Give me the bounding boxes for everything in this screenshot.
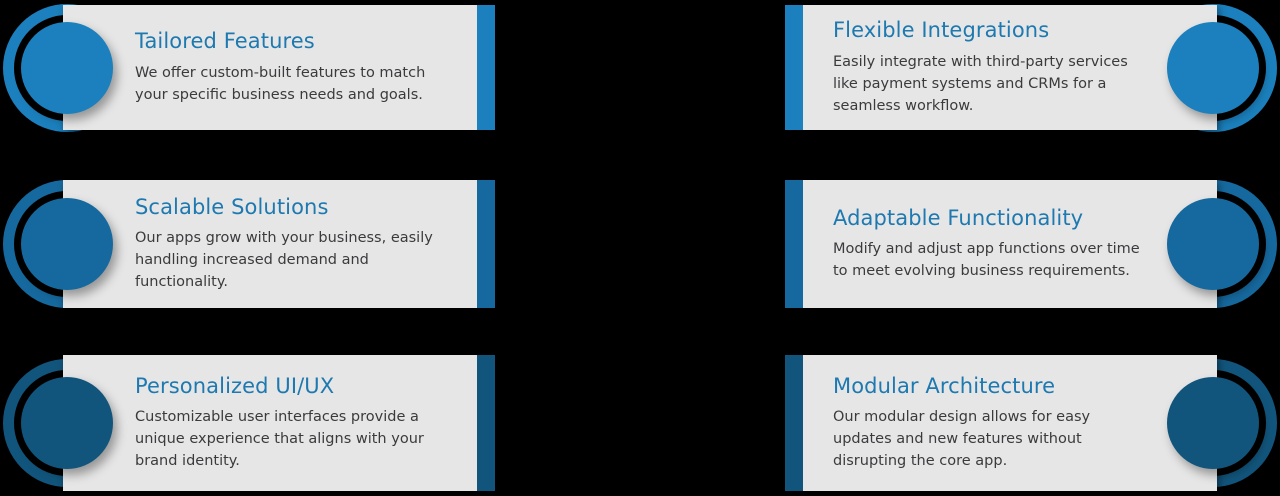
feature-card-description: Customizable user interfaces provide a u… xyxy=(135,406,447,472)
feature-card-description: We offer custom-built features to match … xyxy=(135,62,447,106)
feature-badge-circle-icon xyxy=(21,377,113,469)
feature-card-panel: Personalized UI/UXCustomizable user inte… xyxy=(63,355,495,491)
feature-card-personalized-ui-ux[interactable]: Personalized UI/UXCustomizable user inte… xyxy=(63,355,513,491)
feature-badge-circle-icon xyxy=(1167,377,1259,469)
feature-badge-circle-icon xyxy=(1167,22,1259,114)
feature-badge-circle-icon xyxy=(21,198,113,290)
feature-card-description: Easily integrate with third-party servic… xyxy=(833,51,1145,117)
feature-card-panel: Flexible IntegrationsEasily integrate wi… xyxy=(785,5,1217,130)
feature-card-description: Our modular design allows for easy updat… xyxy=(833,406,1145,472)
feature-badge-circle-icon xyxy=(21,22,113,114)
feature-card-title: Scalable Solutions xyxy=(135,195,447,220)
feature-card-title: Modular Architecture xyxy=(833,374,1145,399)
feature-card-tailored-features[interactable]: Tailored FeaturesWe offer custom-built f… xyxy=(63,5,513,130)
feature-card-title: Adaptable Functionality xyxy=(833,206,1145,231)
feature-card-panel: Tailored FeaturesWe offer custom-built f… xyxy=(63,5,495,130)
feature-card-panel: Scalable SolutionsOur apps grow with you… xyxy=(63,180,495,308)
feature-card-modular-architecture[interactable]: Modular ArchitectureOur modular design a… xyxy=(767,355,1217,491)
feature-card-title: Personalized UI/UX xyxy=(135,374,447,399)
feature-card-flexible-integrations[interactable]: Flexible IntegrationsEasily integrate wi… xyxy=(767,5,1217,130)
feature-card-panel: Adaptable FunctionalityModify and adjust… xyxy=(785,180,1217,308)
feature-card-panel: Modular ArchitectureOur modular design a… xyxy=(785,355,1217,491)
feature-card-description: Our apps grow with your business, easily… xyxy=(135,227,447,293)
feature-card-description: Modify and adjust app functions over tim… xyxy=(833,238,1145,282)
feature-card-scalable-solutions[interactable]: Scalable SolutionsOur apps grow with you… xyxy=(63,180,513,308)
feature-card-title: Flexible Integrations xyxy=(833,18,1145,43)
feature-card-title: Tailored Features xyxy=(135,29,447,54)
feature-card-grid: Tailored FeaturesWe offer custom-built f… xyxy=(0,0,1280,496)
feature-badge-circle-icon xyxy=(1167,198,1259,290)
feature-card-adaptable-functionality[interactable]: Adaptable FunctionalityModify and adjust… xyxy=(767,180,1217,308)
